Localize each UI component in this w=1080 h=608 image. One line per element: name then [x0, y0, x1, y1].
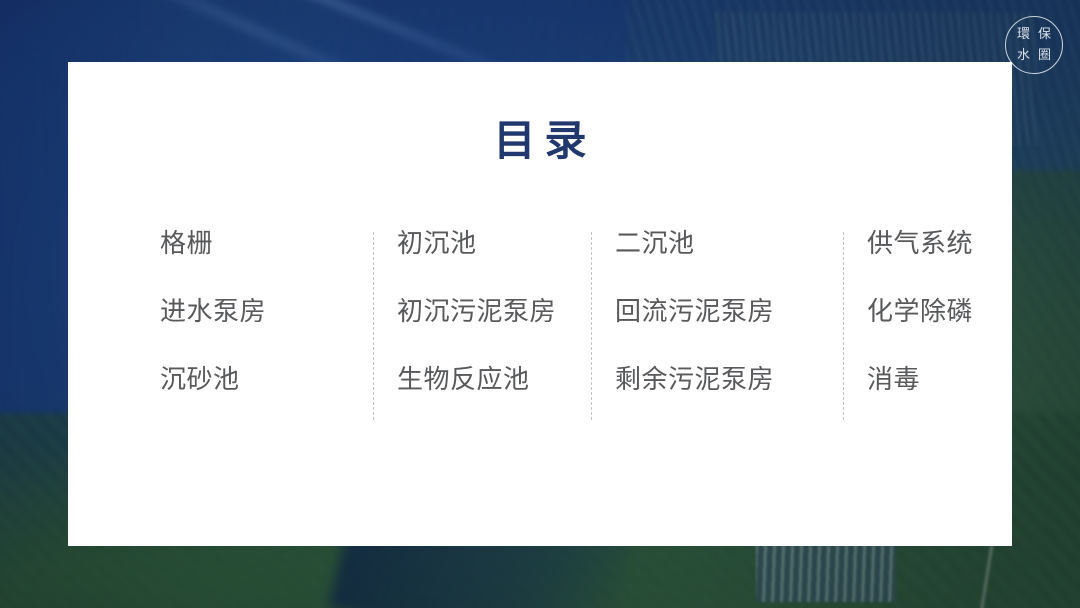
page-title: 目录 — [68, 120, 1012, 162]
toc-column-2: 初沉池 初沉污泥泵房 生物反应池 — [373, 230, 591, 434]
toc-item[interactable]: 初沉池 — [397, 230, 591, 298]
column-divider-1 — [373, 232, 374, 420]
logo-char-3: 水 — [1017, 49, 1030, 62]
content-card: 目录 格栅 进水泵房 沉砂池 初沉池 初沉污泥泵房 生物反应池 二沉池 回流污泥… — [68, 62, 1012, 546]
column-divider-3 — [843, 232, 844, 420]
logo-char-1: 環 — [1017, 28, 1030, 41]
toc-item[interactable]: 生物反应池 — [397, 366, 591, 434]
brand-logo: 環 保 水 圈 — [1005, 16, 1063, 74]
logo-char-2: 保 — [1038, 28, 1051, 41]
toc-item[interactable]: 进水泵房 — [160, 298, 373, 366]
toc-item[interactable]: 剩余污泥泵房 — [615, 366, 843, 434]
toc-item[interactable]: 消毒 — [867, 366, 973, 434]
presentation-slide: 環 保 水 圈 目录 格栅 进水泵房 沉砂池 初沉池 初沉污泥泵房 生物反应池 … — [0, 0, 1080, 608]
toc-column-4: 供气系统 化学除磷 消毒 — [843, 230, 973, 434]
logo-char-4: 圈 — [1038, 49, 1051, 62]
toc-item[interactable]: 沉砂池 — [160, 366, 373, 434]
toc-column-3: 二沉池 回流污泥泵房 剩余污泥泵房 — [591, 230, 843, 434]
toc-column-1: 格栅 进水泵房 沉砂池 — [154, 230, 373, 434]
toc-item[interactable]: 二沉池 — [615, 230, 843, 298]
toc-item[interactable]: 初沉污泥泵房 — [397, 298, 591, 366]
toc-item[interactable]: 化学除磷 — [867, 298, 973, 366]
table-of-contents: 格栅 进水泵房 沉砂池 初沉池 初沉污泥泵房 生物反应池 二沉池 回流污泥泵房 … — [154, 230, 944, 434]
toc-item[interactable]: 回流污泥泵房 — [615, 298, 843, 366]
toc-item[interactable]: 格栅 — [160, 230, 373, 298]
toc-item[interactable]: 供气系统 — [867, 230, 973, 298]
column-divider-2 — [591, 232, 592, 420]
